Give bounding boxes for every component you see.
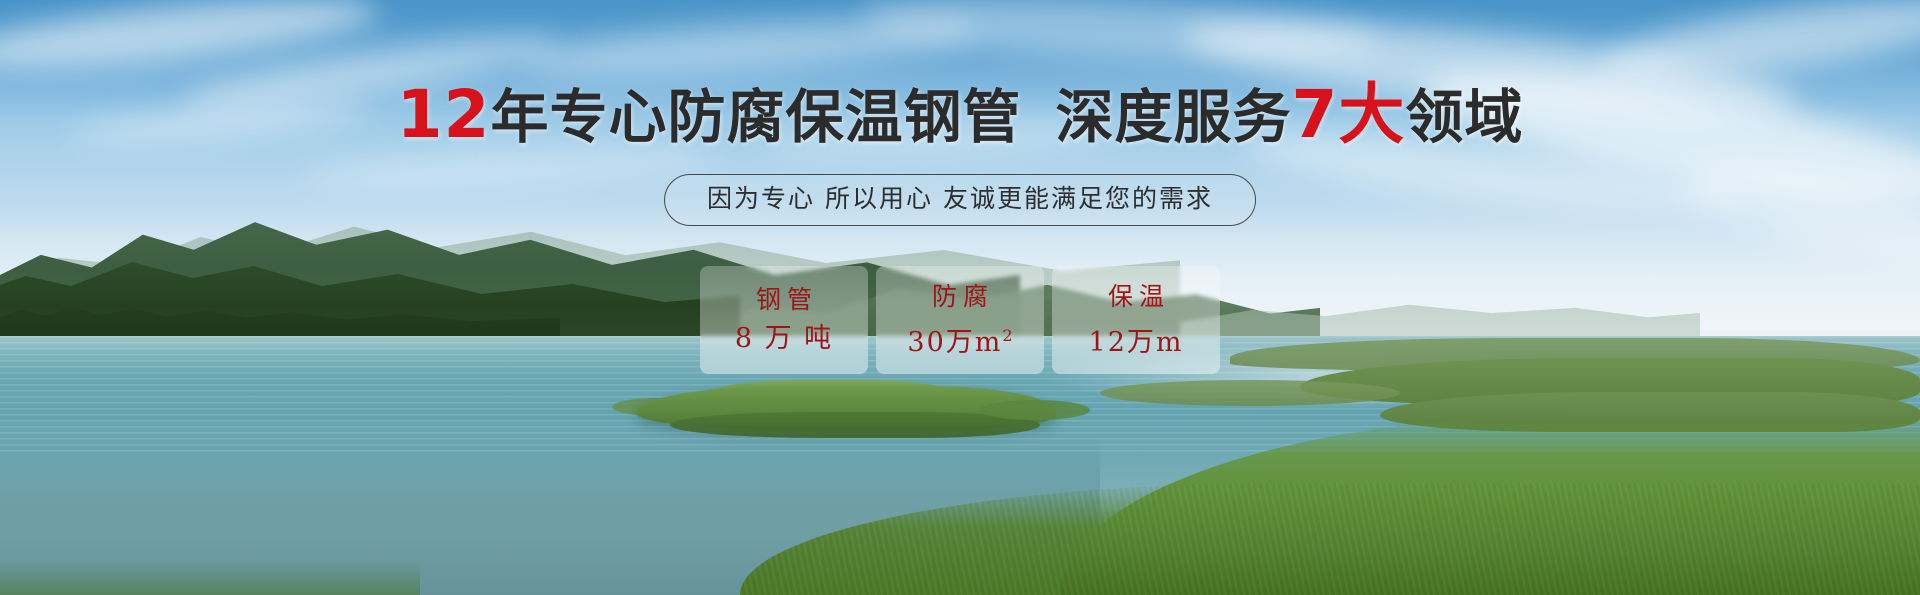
banner-subtitle-pill: 因为专心 所以用心 友诚更能满足您的需求 <box>664 174 1256 226</box>
banner-headline: 12年专心防腐保温钢管深度服务7大领域 <box>0 84 1920 148</box>
headline-highlight-fields: 7大 <box>1291 76 1405 153</box>
hero-banner: 12年专心防腐保温钢管深度服务7大领域 因为专心 所以用心 友诚更能满足您的需求… <box>0 0 1920 595</box>
stat-card-label: 钢管 <box>750 286 818 314</box>
stat-card-value-superscript: 2 <box>1002 326 1012 345</box>
stat-card-value-text: 30万m <box>907 327 1002 358</box>
stat-card-value-text: 12万m <box>1089 327 1184 358</box>
headline-text-tertiary: 领域 <box>1405 83 1523 151</box>
headline-text-primary: 年专心防腐保温钢管 <box>490 83 1021 151</box>
stat-card-label: 保温 <box>1102 283 1170 311</box>
stat-card-steel-pipe[interactable]: 钢管 8 万 吨 <box>700 266 868 374</box>
marsh-patch <box>1100 380 1400 406</box>
grass-island-shadow <box>670 412 1040 438</box>
headline-highlight-years: 12 <box>397 76 491 153</box>
stat-card-label: 防腐 <box>926 283 994 311</box>
stat-card-insulation[interactable]: 保温 12万m <box>1052 266 1220 374</box>
stat-card-value: 8 万 吨 <box>735 324 833 354</box>
stat-card-group: 钢管 8 万 吨 防腐 30万m2 保温 12万m <box>700 266 1220 374</box>
stat-card-value: 12万m <box>1089 321 1184 358</box>
stat-card-value: 30万m2 <box>907 321 1012 358</box>
headline-text-secondary: 深度服务 <box>1055 83 1291 151</box>
stat-card-value-text: 8 万 吨 <box>735 323 833 354</box>
grass-island-tail <box>980 400 1090 420</box>
foreground-grass-left <box>0 561 420 595</box>
stat-card-anticorrosion[interactable]: 防腐 30万m2 <box>876 266 1044 374</box>
